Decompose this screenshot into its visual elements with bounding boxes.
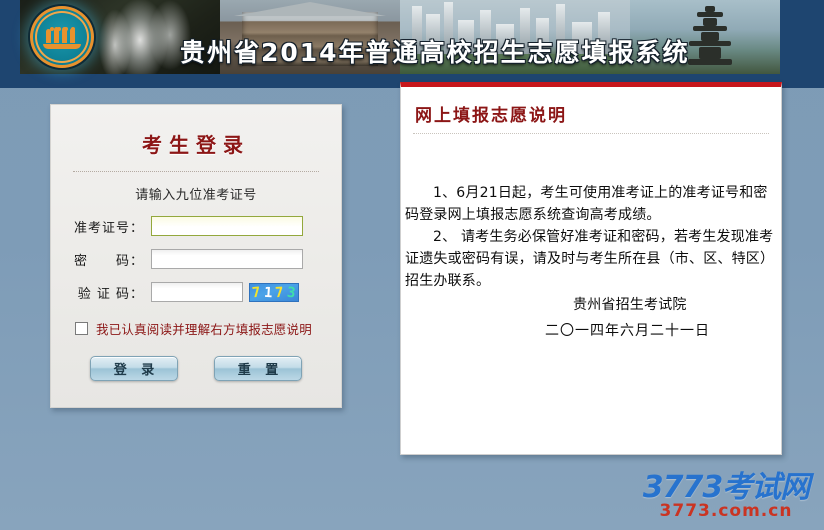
notice-item-1: 1、6月21日起，考生可使用准考证上的准考证号和密码登录网上填报志愿系统查询高考… — [405, 182, 775, 226]
notice-divider — [413, 133, 769, 134]
captcha-label: 验 证 码： — [63, 283, 151, 302]
captcha-row: 验 证 码： 7 1 7 3 — [51, 282, 341, 302]
captcha-image[interactable]: 7 1 7 3 — [249, 283, 299, 302]
emblem-logo-icon — [28, 4, 96, 70]
captcha-input[interactable] — [151, 282, 243, 302]
watermark-main-text: 3773考试网 — [638, 472, 814, 504]
notice-panel: 网上填报志愿说明 1、6月21日起，考生可使用准考证上的准考证号和密码登录网上填… — [400, 82, 782, 455]
notice-body: 1、6月21日起，考生可使用准考证上的准考证号和密码登录网上填报志愿系统查询高考… — [405, 182, 775, 342]
agreement-label[interactable]: 我已认真阅读并理解右方填报志愿说明 — [96, 319, 312, 338]
signature-organization: 贵州省招生考试院 — [405, 294, 775, 316]
ticket-number-row: 准考证号： — [51, 216, 341, 236]
login-button-row: 登 录 重 置 — [51, 356, 341, 381]
notice-item-2: 2、 请考生务必保管好准考证和密码，若考生发现准考证遗失或密码有误，请及时与考生… — [405, 226, 775, 292]
reset-button[interactable]: 重 置 — [214, 356, 302, 381]
agreement-checkbox[interactable] — [75, 322, 88, 335]
notice-signature: 贵州省招生考试院 二〇一四年六月二十一日 — [405, 294, 775, 342]
captcha-digit-2: 1 — [263, 284, 273, 301]
site-header: 贵州省2014年普通高校招生志愿填报系统 — [0, 0, 824, 88]
password-label: 密 码： — [63, 250, 151, 269]
login-subtitle: 请输入九位准考证号 — [51, 184, 341, 203]
password-row: 密 码： — [51, 249, 341, 269]
agreement-row: 我已认真阅读并理解右方填报志愿说明 — [51, 319, 341, 338]
login-divider — [73, 171, 319, 172]
watermark: 3773考试网 3773.com.cn — [638, 472, 814, 524]
login-button[interactable]: 登 录 — [90, 356, 178, 381]
login-title: 考生登录 — [51, 129, 341, 158]
captcha-digit-3: 7 — [275, 284, 284, 300]
notice-title: 网上填报志愿说明 — [415, 101, 781, 126]
banner-title: 贵州省2014年普通高校招生志愿填报系统 — [180, 40, 780, 65]
ticket-number-label: 准考证号： — [63, 217, 151, 236]
ticket-number-input[interactable] — [151, 216, 303, 236]
signature-date: 二〇一四年六月二十一日 — [405, 320, 775, 342]
captcha-digit-4: 3 — [286, 284, 296, 301]
captcha-digit-1: 7 — [251, 284, 261, 301]
login-panel: 考生登录 请输入九位准考证号 准考证号： 密 码： 验 证 码： 7 1 7 3… — [50, 104, 342, 408]
watermark-sub-text: 3773.com.cn — [638, 502, 814, 520]
password-input[interactable] — [151, 249, 303, 269]
